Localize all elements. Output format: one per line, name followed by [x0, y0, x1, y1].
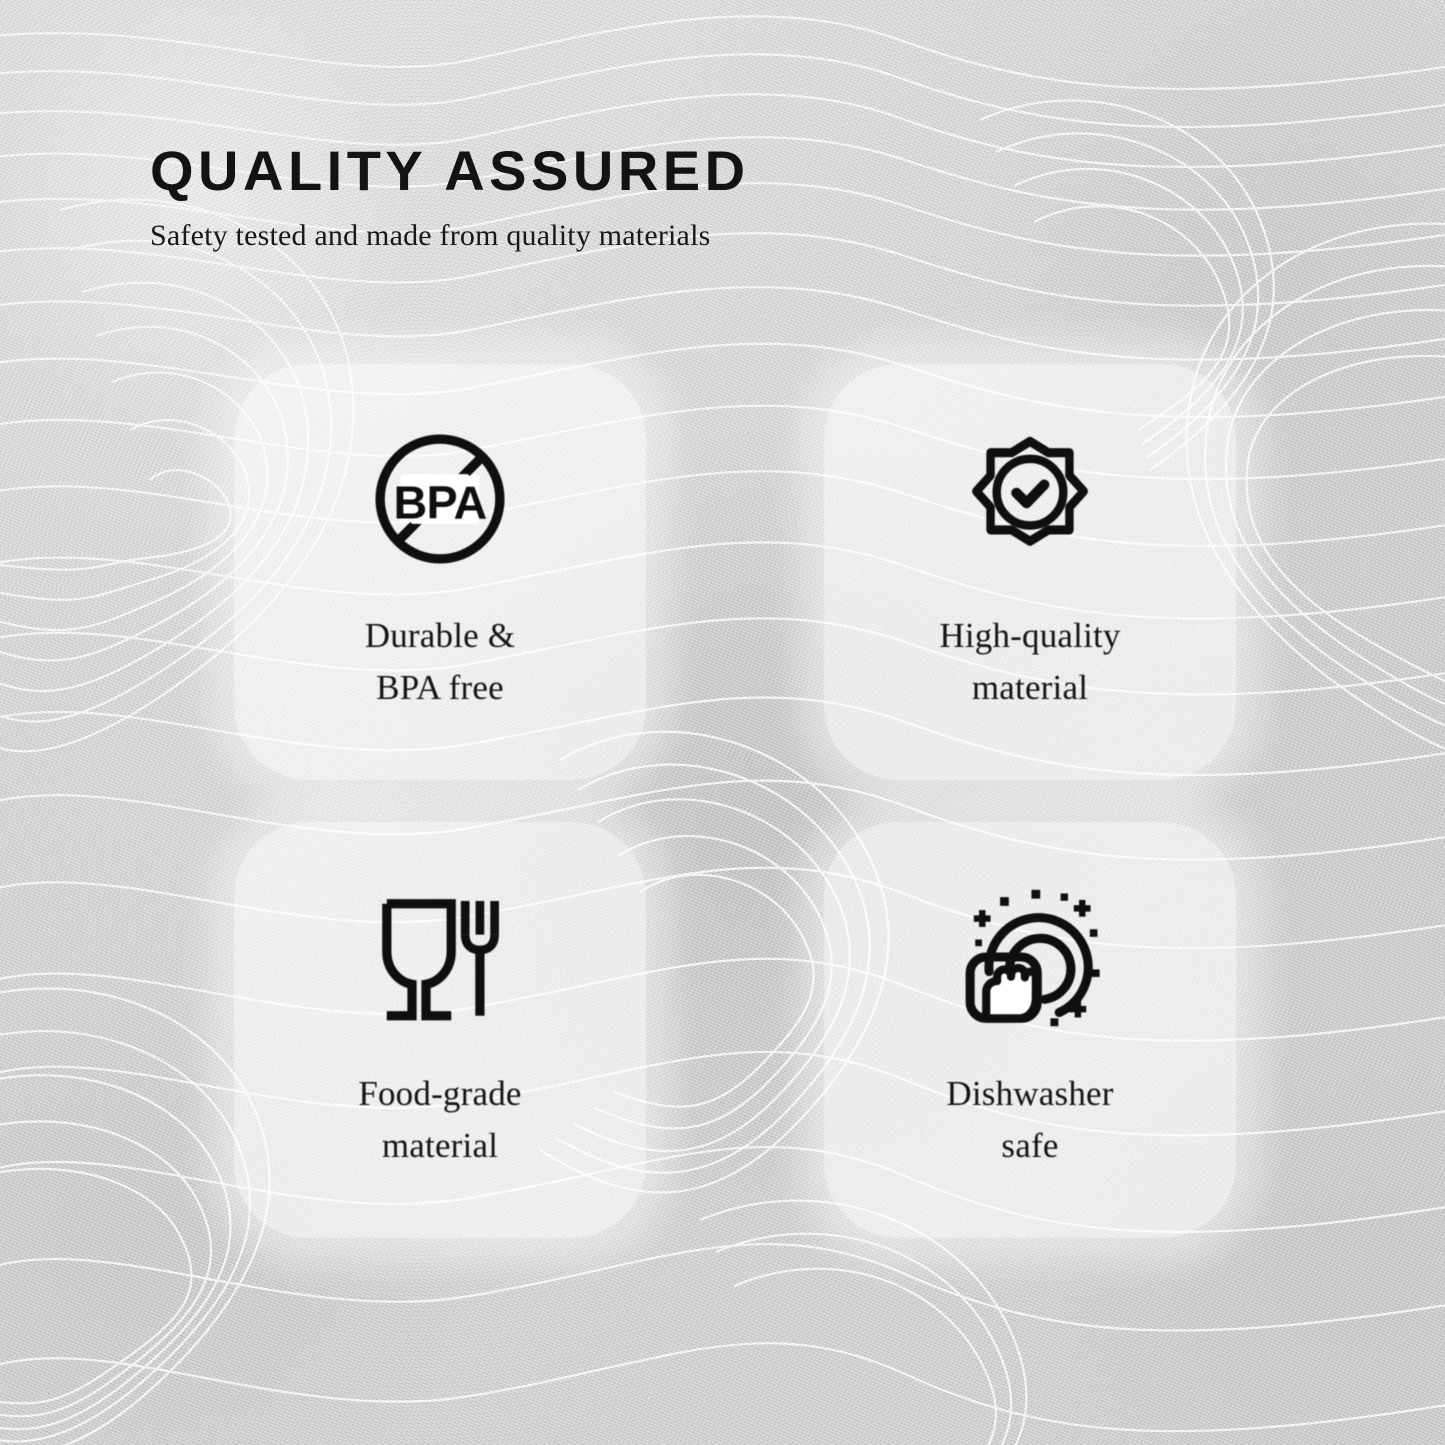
- header: QUALITY ASSURED Safety tested and made f…: [150, 142, 750, 253]
- feature-label-food-grade: Food-grade material: [358, 1068, 521, 1172]
- feature-label-line2: BPA free: [365, 662, 516, 714]
- feature-card-high-quality: High-quality material: [824, 364, 1236, 780]
- feature-label-bpa-free: Durable & BPA free: [365, 610, 516, 714]
- feature-label-line2: safe: [946, 1120, 1113, 1172]
- feature-card-bpa-free: BPA Durable & BPA free: [234, 364, 646, 780]
- food-grade-glass-fork-icon: [370, 884, 510, 1030]
- bpa-free-icon: BPA: [367, 426, 513, 572]
- feature-label-line1: Durable &: [365, 616, 516, 655]
- feature-card-dishwasher-safe: Dishwasher safe: [824, 822, 1236, 1238]
- feature-label-dishwasher-safe: Dishwasher safe: [946, 1068, 1113, 1172]
- feature-label-line1: Food-grade: [358, 1074, 521, 1113]
- feature-card-food-grade: Food-grade material: [234, 822, 646, 1238]
- feature-label-line1: High-quality: [939, 616, 1120, 655]
- dishwasher-safe-icon: [954, 884, 1106, 1030]
- page-title: QUALITY ASSURED: [150, 142, 750, 201]
- bpa-icon-text: BPA: [394, 477, 487, 529]
- page-subtitle: Safety tested and made from quality mate…: [150, 219, 750, 253]
- feature-label-line1: Dishwasher: [946, 1074, 1113, 1113]
- feature-label-line2: material: [939, 662, 1120, 714]
- quality-assured-infographic: QUALITY ASSURED Safety tested and made f…: [0, 0, 1445, 1445]
- feature-label-high-quality: High-quality material: [939, 610, 1120, 714]
- quality-badge-check-icon: [962, 426, 1098, 572]
- feature-label-line2: material: [358, 1120, 521, 1172]
